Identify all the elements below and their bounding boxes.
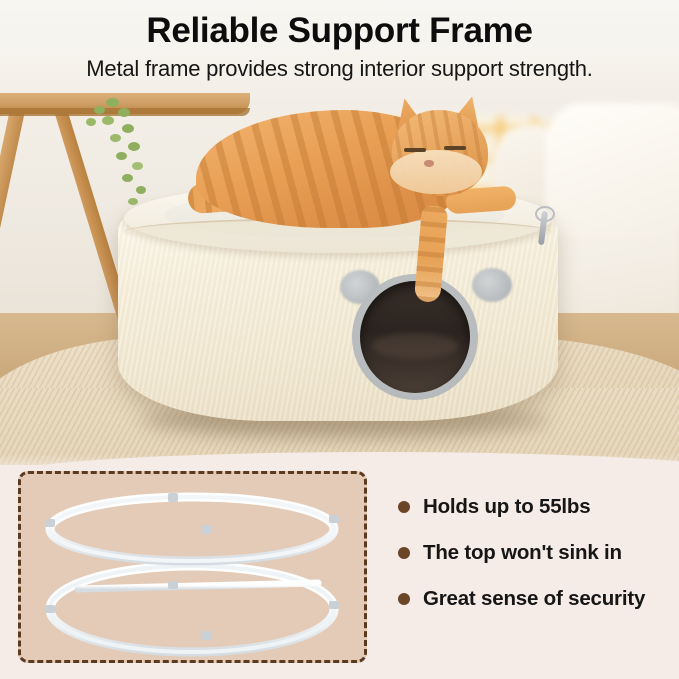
list-item: Great sense of security	[398, 587, 673, 611]
bullet-dot-icon	[398, 593, 410, 605]
entrance-highlight	[372, 333, 458, 359]
cat-muzzle	[390, 150, 482, 194]
list-item: Holds up to 55lbs	[398, 495, 673, 519]
bullet-dot-icon	[398, 501, 410, 513]
cat-eye-left	[404, 148, 426, 152]
product-feature-page: Reliable Support Frame Metal frame provi…	[0, 0, 679, 679]
cat-eye-right	[444, 146, 466, 150]
header-banner: Reliable Support Frame Metal frame provi…	[0, 0, 679, 93]
feature-label: Great sense of security	[423, 587, 645, 611]
feature-list: Holds up to 55lbs The top won't sink in …	[398, 495, 673, 633]
white-pillow	[545, 103, 679, 238]
feature-label: The top won't sink in	[423, 541, 622, 565]
metal-frame-diagram	[18, 471, 367, 663]
page-subtitle: Metal frame provides strong interior sup…	[0, 55, 679, 83]
list-item: The top won't sink in	[398, 541, 673, 565]
bullet-dot-icon	[398, 547, 410, 559]
feature-label: Holds up to 55lbs	[423, 495, 590, 519]
pompom-ear-right	[472, 268, 512, 302]
page-title: Reliable Support Frame	[0, 10, 679, 52]
cat-nose	[424, 160, 434, 167]
product-photo	[0, 88, 679, 480]
